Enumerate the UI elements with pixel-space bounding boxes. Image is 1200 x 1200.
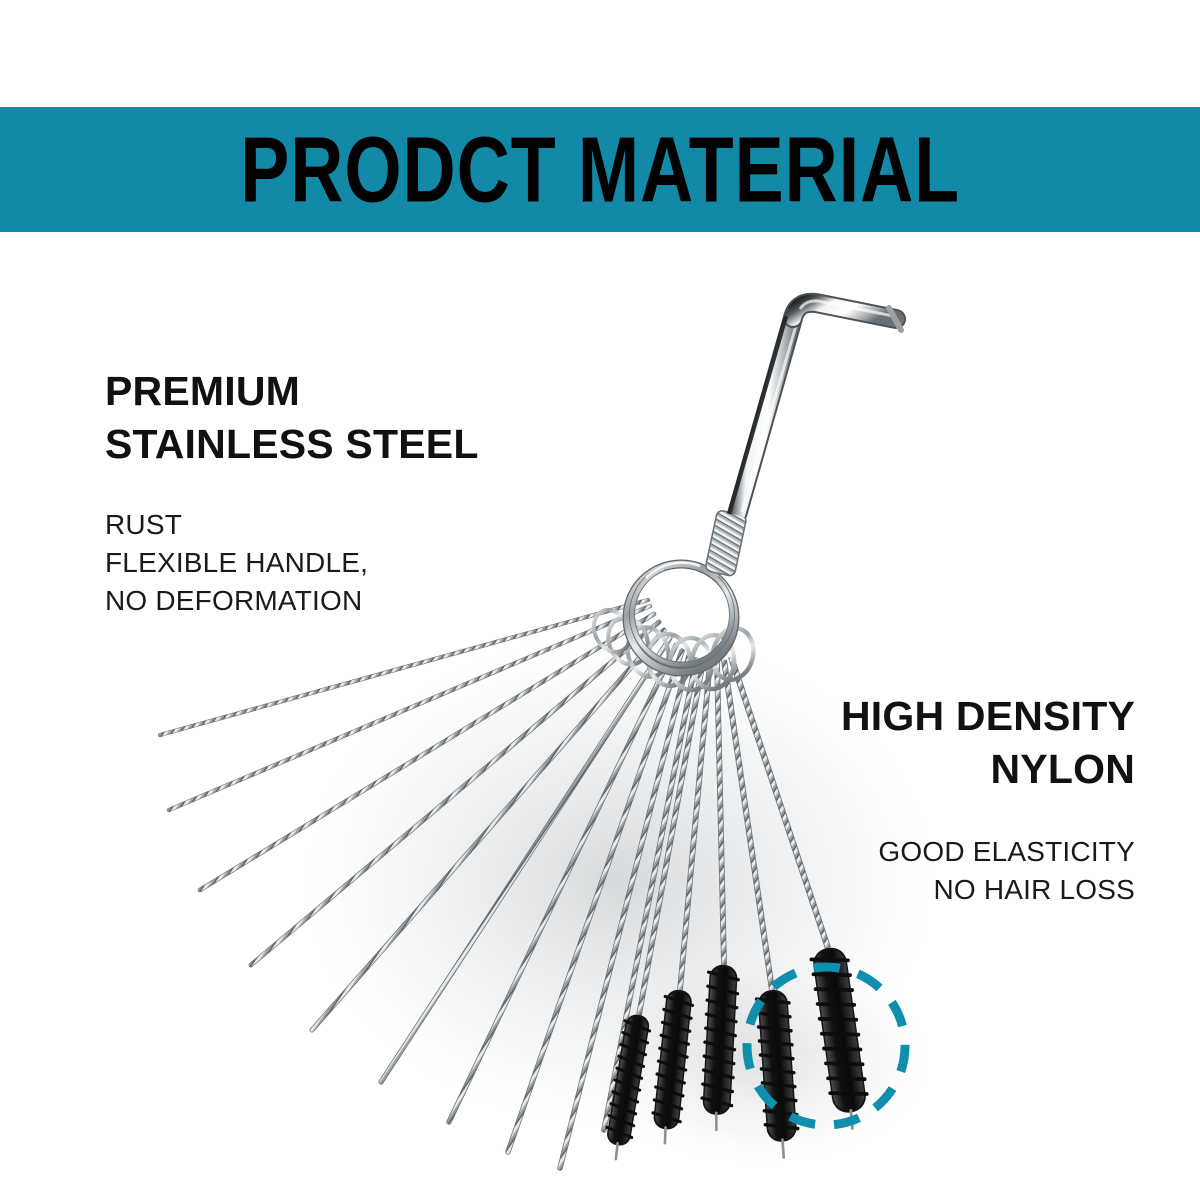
infographic-canvas: PRODCT MATERIAL PREMIUM STAINLESS STEEL … bbox=[0, 0, 1200, 1200]
right-heading-line-2: NYLON bbox=[841, 743, 1135, 796]
bristle-brush-4 bbox=[724, 660, 800, 1159]
left-feature-block: PREMIUM STAINLESS STEEL RUST FLEXIBLE HA… bbox=[105, 365, 479, 620]
left-body: RUST FLEXIBLE HANDLE, NO DEFORMATION bbox=[105, 506, 479, 620]
right-feature-block: HIGH DENSITY NYLON GOOD ELASTICITY NO HA… bbox=[841, 690, 1135, 909]
right-body-line-1: GOOD ELASTICITY bbox=[841, 833, 1135, 871]
right-body: GOOD ELASTICITY NO HAIR LOSS bbox=[841, 833, 1135, 909]
left-body-line-3: NO DEFORMATION bbox=[105, 582, 479, 620]
split-ring bbox=[627, 563, 735, 672]
right-heading-line-1: HIGH DENSITY bbox=[841, 690, 1135, 743]
bristle-brush-2 bbox=[650, 662, 710, 1145]
left-body-line-2: FLEXIBLE HANDLE, bbox=[105, 544, 479, 582]
wire-fan bbox=[160, 600, 696, 1168]
bristle-brush-3 bbox=[700, 661, 739, 1131]
left-heading-line-1: PREMIUM bbox=[105, 365, 479, 418]
page-title: PRODCT MATERIAL bbox=[240, 123, 960, 216]
bristle-brush-group bbox=[602, 657, 871, 1161]
highlight-circle bbox=[747, 967, 905, 1125]
bristle-brush-1 bbox=[602, 662, 703, 1161]
hex-key-handle bbox=[705, 301, 901, 577]
right-body-line-2: NO HAIR LOSS bbox=[841, 871, 1135, 909]
left-heading-line-2: STAINLESS STEEL bbox=[105, 418, 479, 471]
left-body-line-1: RUST bbox=[105, 506, 479, 544]
small-attachment-rings bbox=[587, 604, 759, 691]
banner: PRODCT MATERIAL bbox=[0, 107, 1200, 232]
